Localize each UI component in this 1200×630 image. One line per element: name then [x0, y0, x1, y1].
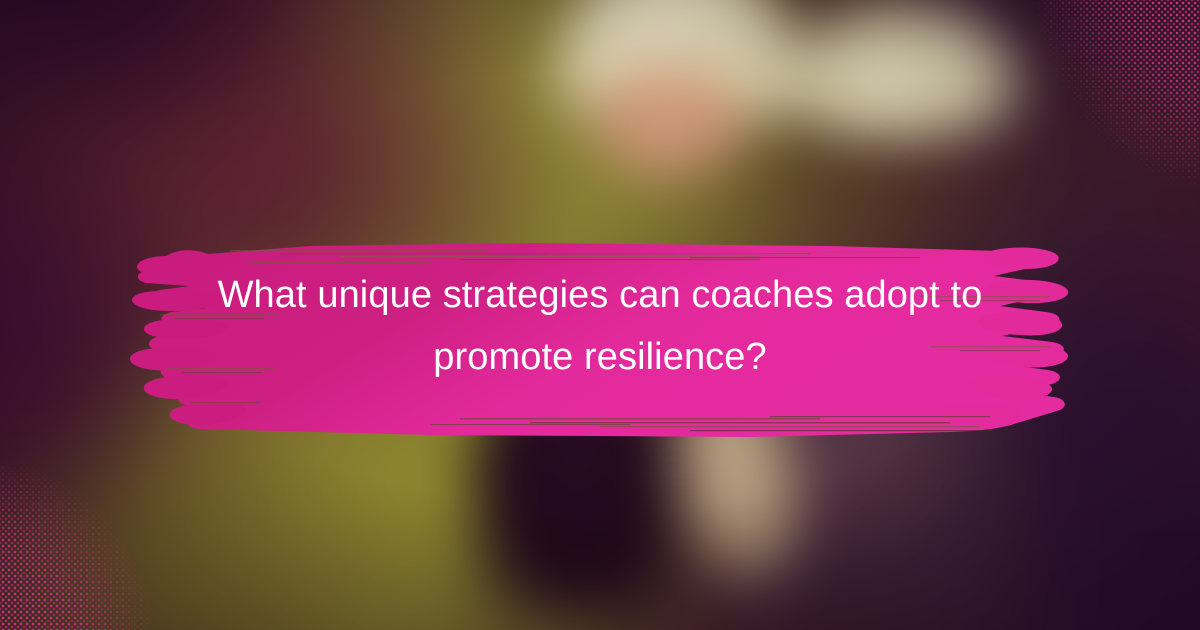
headline-text: What unique strategies can coaches adopt… [170, 265, 1030, 388]
social-quote-card: What unique strategies can coaches adopt… [0, 0, 1200, 630]
